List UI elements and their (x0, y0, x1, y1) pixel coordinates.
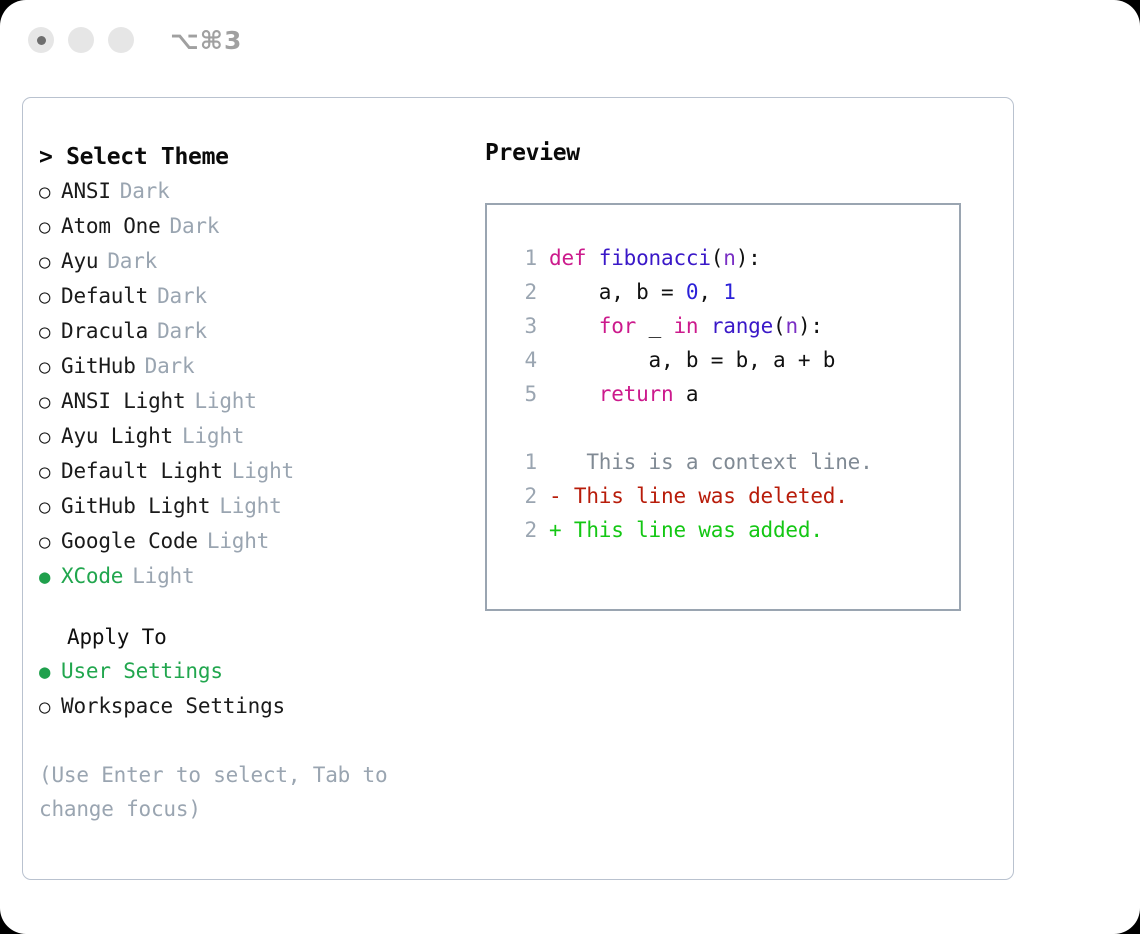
radio-unselected-icon: ○ (39, 315, 61, 349)
code-token-pln: ( (773, 309, 785, 343)
theme-option-kind: Dark (170, 209, 220, 243)
main-panel: > Select Theme ○ANSIDark○Atom OneDark○Ay… (22, 97, 1014, 880)
code-line: 2 a, b = 0, 1 (503, 275, 959, 309)
diff-text: This line was added. (561, 513, 822, 547)
section-spacer (39, 594, 485, 620)
radio-unselected-icon: ○ (39, 420, 61, 454)
diff-line-number: 2 (503, 513, 537, 547)
code-spacer (503, 411, 959, 445)
theme-option-kind: Dark (145, 349, 195, 383)
theme-option-ayu-light[interactable]: ○Ayu LightLight (39, 419, 485, 454)
diff-line: 2+ This line was added. (503, 513, 959, 547)
window-dot-third-icon[interactable] (108, 27, 134, 53)
theme-option-label: Default Light (61, 454, 223, 488)
code-token-num: 0 (686, 275, 698, 309)
code-token-var: n (785, 309, 797, 343)
radio-unselected-icon: ○ (39, 455, 61, 489)
code-token-pln: ): (798, 309, 823, 343)
code-token-fn: fibonacci (599, 241, 711, 275)
apply-to-option-workspace-settings[interactable]: ○Workspace Settings (39, 689, 485, 724)
radio-unselected-icon: ○ (39, 175, 61, 209)
theme-option-label: ANSI (61, 174, 111, 208)
diff-line-number: 2 (503, 479, 537, 513)
diff-text: This is a context line. (561, 445, 872, 479)
code-token-num: 1 (723, 275, 735, 309)
theme-option-kind: Light (194, 384, 256, 418)
theme-option-ansi[interactable]: ○ANSIDark (39, 174, 485, 209)
apply-to-header: Apply To (39, 620, 485, 654)
theme-option-kind: Light (219, 489, 281, 523)
radio-unselected-icon: ○ (39, 245, 61, 279)
theme-option-google-code[interactable]: ○Google CodeLight (39, 524, 485, 559)
code-line-number: 2 (503, 275, 537, 309)
apply-to-option-user-settings[interactable]: ●User Settings (39, 654, 485, 689)
radio-unselected-icon: ○ (39, 525, 61, 559)
radio-unselected-icon: ○ (39, 280, 61, 314)
radio-selected-icon: ● (39, 655, 61, 689)
code-token-pln: _ (636, 309, 673, 343)
apply-to-list: ●User Settings○Workspace Settings (39, 654, 485, 724)
theme-option-label: Default (61, 279, 148, 313)
code-line-number: 3 (503, 309, 537, 343)
apply-to-option-label: User Settings (61, 654, 223, 688)
theme-option-label: GitHub Light (61, 489, 210, 523)
code-token-pln: a, b = b, a + b (549, 343, 835, 377)
select-theme-header: > Select Theme (39, 140, 485, 174)
code-sample: 1def fibonacci(n):2 a, b = 0, 13 for _ i… (503, 241, 959, 411)
theme-option-label: ANSI Light (61, 384, 185, 418)
radio-unselected-icon: ○ (39, 210, 61, 244)
theme-option-kind: Dark (107, 244, 157, 278)
diff-text: This line was deleted. (561, 479, 847, 513)
theme-option-dracula[interactable]: ○DraculaDark (39, 314, 485, 349)
radio-selected-icon: ● (39, 560, 61, 594)
theme-option-label: Atom One (61, 209, 161, 243)
code-token-pln (549, 377, 599, 411)
code-line-number: 1 (503, 241, 537, 275)
diff-sample: 1 This is a context line.2- This line wa… (503, 445, 959, 547)
theme-picker-column: > Select Theme ○ANSIDark○Atom OneDark○Ay… (23, 140, 485, 826)
theme-option-kind: Dark (120, 174, 170, 208)
theme-option-atom-one[interactable]: ○Atom OneDark (39, 209, 485, 244)
preview-box: 1def fibonacci(n):2 a, b = 0, 13 for _ i… (485, 203, 961, 611)
panel-columns: > Select Theme ○ANSIDark○Atom OneDark○Ay… (23, 98, 1013, 826)
window-dot-second-icon[interactable] (68, 27, 94, 53)
preview-header: Preview (485, 140, 1013, 166)
diff-line-number: 1 (503, 445, 537, 479)
code-token-pln: a (673, 377, 698, 411)
keyboard-hint-text: (Use Enter to select, Tab to change focu… (39, 758, 439, 826)
theme-option-label: Google Code (61, 524, 198, 558)
theme-option-github[interactable]: ○GitHubDark (39, 349, 485, 384)
code-token-pln (549, 309, 599, 343)
radio-unselected-icon: ○ (39, 490, 61, 524)
preview-column: Preview 1def fibonacci(n):2 a, b = 0, 13… (485, 140, 1013, 826)
code-token-pln (698, 309, 710, 343)
code-line: 3 for _ in range(n): (503, 309, 959, 343)
theme-option-kind: Dark (157, 279, 207, 313)
theme-option-github-light[interactable]: ○GitHub LightLight (39, 489, 485, 524)
theme-option-kind: Light (207, 524, 269, 558)
theme-option-label: XCode (61, 559, 123, 593)
diff-marker: - (549, 479, 561, 513)
theme-option-ayu[interactable]: ○AyuDark (39, 244, 485, 279)
theme-option-kind: Dark (157, 314, 207, 348)
code-token-kw: for (599, 309, 636, 343)
diff-line: 1 This is a context line. (503, 445, 959, 479)
theme-option-xcode[interactable]: ●XCodeLight (39, 559, 485, 594)
title-bar: ⌥⌘3 (0, 0, 1140, 80)
app-window: ⌥⌘3 > Select Theme ○ANSIDark○Atom OneDar… (0, 0, 1140, 934)
code-line: 1def fibonacci(n): (503, 241, 959, 275)
code-line-number: 5 (503, 377, 537, 411)
radio-unselected-icon: ○ (39, 350, 61, 384)
theme-option-kind: Light (132, 559, 194, 593)
code-token-pln: ): (736, 241, 761, 275)
theme-option-label: Dracula (61, 314, 148, 348)
code-line-number: 4 (503, 343, 537, 377)
apply-to-option-label: Workspace Settings (61, 689, 285, 723)
diff-marker (549, 445, 561, 479)
theme-option-label: GitHub (61, 349, 136, 383)
code-token-kw: return (599, 377, 674, 411)
keyboard-shortcut-label: ⌥⌘3 (170, 26, 242, 55)
window-dot-active-icon[interactable] (28, 27, 54, 53)
theme-option-label: Ayu Light (61, 419, 173, 453)
code-line: 4 a, b = b, a + b (503, 343, 959, 377)
code-token-kw: in (673, 309, 698, 343)
theme-option-ansi-light[interactable]: ○ANSI LightLight (39, 384, 485, 419)
theme-option-kind: Light (232, 454, 294, 488)
code-token-pln: , (698, 275, 723, 309)
diff-marker: + (549, 513, 561, 547)
window-dot-inner-icon (37, 36, 46, 45)
theme-list: ○ANSIDark○Atom OneDark○AyuDark○DefaultDa… (39, 174, 485, 594)
code-token-pln: ( (711, 241, 723, 275)
theme-option-default-light[interactable]: ○Default LightLight (39, 454, 485, 489)
code-line: 5 return a (503, 377, 959, 411)
code-token-fn: range (711, 309, 773, 343)
code-token-var: n (723, 241, 735, 275)
theme-option-label: Ayu (61, 244, 98, 278)
window-controls (28, 27, 134, 53)
diff-line: 2- This line was deleted. (503, 479, 959, 513)
theme-option-default[interactable]: ○DefaultDark (39, 279, 485, 314)
theme-option-kind: Light (182, 419, 244, 453)
code-token-pln: a, b = (549, 275, 686, 309)
code-token-kw: def (549, 241, 599, 275)
radio-unselected-icon: ○ (39, 385, 61, 419)
radio-unselected-icon: ○ (39, 690, 61, 724)
